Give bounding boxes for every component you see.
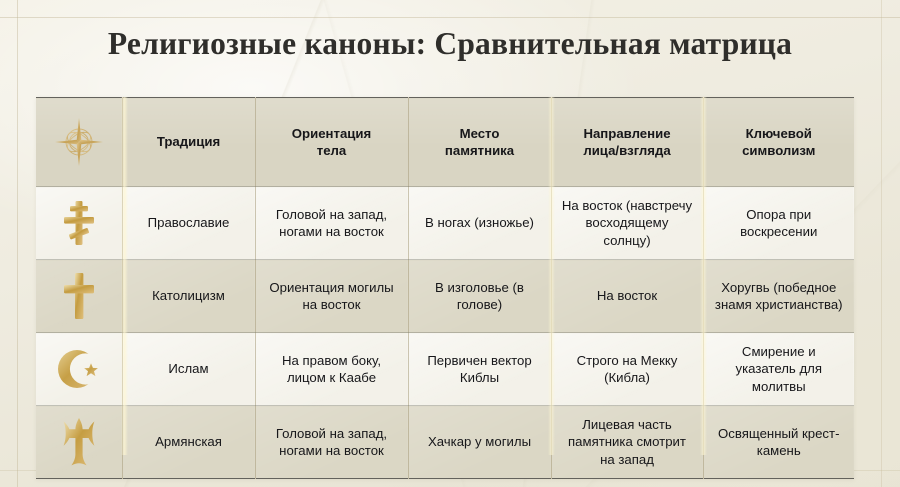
header-cell-face-direction: Направление лица/взгляда [551,98,703,187]
cell-face-direction: Лицевая часть памятника смотрит на запад [551,406,703,479]
guide-line-vertical-right [881,0,882,487]
cell-tradition: Православие [122,187,255,260]
header-cell-tradition: Традиция [122,98,255,187]
cell-face-direction: На восток [551,260,703,333]
crescent-star-icon [45,344,113,394]
cell-monument-place: Первичен вектор Киблы [408,333,551,406]
cell-monument-place: В изголовье (в голове) [408,260,551,333]
cell-key-symbolism: Хоругвь (победное знамя христианства) [703,260,854,333]
page-title: Религиозные каноны: Сравнительная матриц… [0,26,900,62]
cell-face-direction: На восток (навстречу восходящему солнцу) [551,187,703,260]
slide-page: Религиозные каноны: Сравнительная матриц… [0,0,900,487]
row-icon-cell [36,187,122,260]
table-row: Ислам На правом боку, лицом к Каабе Перв… [36,333,854,406]
header-place-line1: Место [460,126,500,141]
guide-line-horizontal-top [0,17,900,18]
cell-key-symbolism: Освященный крест-камень [703,406,854,479]
table-body: Православие Головой на запад, ногами на … [36,187,854,479]
header-face-line2: лица/взгляда [583,143,670,158]
table-row: Армянская Головой на запад, ногами на во… [36,406,854,479]
header-cell-icon [36,98,122,187]
compass-rose-icon [45,104,113,180]
armenian-cross-icon [45,416,113,468]
header-row: Традиция Ориентация тела Место памятника… [36,98,854,187]
cell-tradition: Ислам [122,333,255,406]
header-cell-key-symbolism: Ключевой символизм [703,98,854,187]
row-icon-cell [36,406,122,479]
cell-orientation: На правом боку, лицом к Каабе [255,333,408,406]
cell-monument-place: В ногах (изножье) [408,187,551,260]
cell-key-symbolism: Опора при воскресении [703,187,854,260]
table-row: Католицизм Ориентация могилы на восток В… [36,260,854,333]
row-icon-cell [36,260,122,333]
cell-tradition: Армянская [122,406,255,479]
latin-cross-icon [45,270,113,322]
header-cell-orientation: Ориентация тела [255,98,408,187]
guide-line-vertical-left [17,0,18,487]
row-icon-cell [36,333,122,406]
cell-orientation: Головой на запад, ногами на восток [255,406,408,479]
table-header: Традиция Ориентация тела Место памятника… [36,98,854,187]
header-symbol-line1: Ключевой [746,126,812,141]
cell-tradition: Католицизм [122,260,255,333]
header-symbol-line2: символизм [742,143,815,158]
header-orientation-line1: Ориентация [292,126,371,141]
cell-monument-place: Хачкар у могилы [408,406,551,479]
orthodox-cross-icon [45,197,113,249]
comparison-matrix-table: Традиция Ориентация тела Место памятника… [36,97,854,479]
cell-face-direction: Строго на Мекку (Кибла) [551,333,703,406]
cell-orientation: Головой на запад, ногами на восток [255,187,408,260]
cell-orientation: Ориентация могилы на восток [255,260,408,333]
header-place-line2: памятника [445,143,514,158]
header-cell-monument-place: Место памятника [408,98,551,187]
header-orientation-line2: тела [317,143,347,158]
cell-key-symbolism: Смирение и указатель для молитвы [703,333,854,406]
table-row: Православие Головой на запад, ногами на … [36,187,854,260]
header-face-line1: Направление [583,126,670,141]
